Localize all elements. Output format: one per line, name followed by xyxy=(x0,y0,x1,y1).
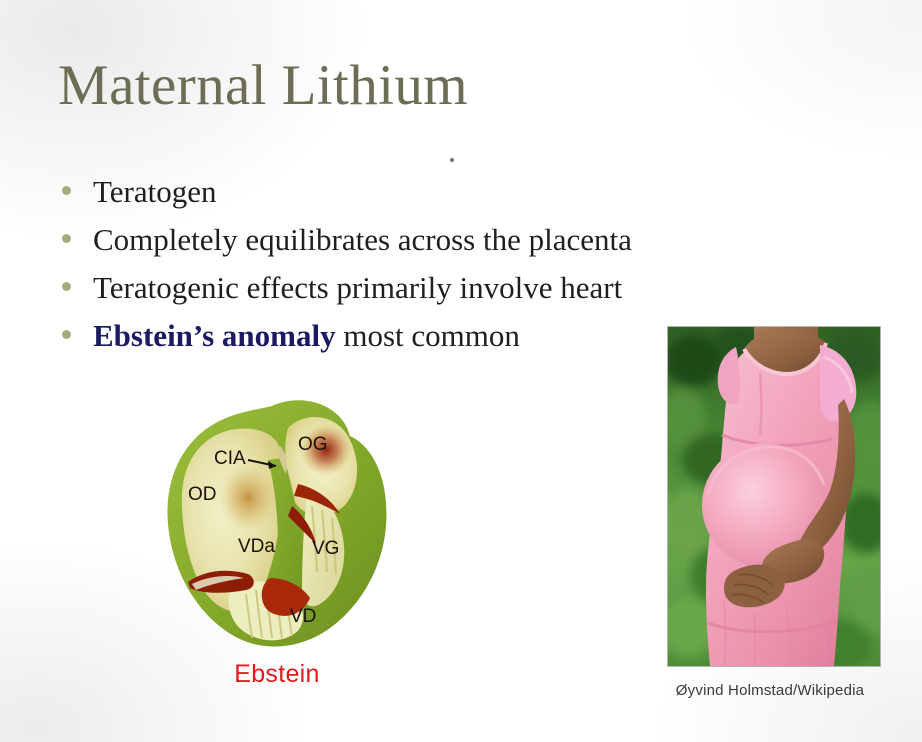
label-og: OG xyxy=(298,434,328,455)
photo-credit-caption: Øyvind Holmstad/Wikipedia xyxy=(630,682,910,699)
label-vda: VDa xyxy=(238,536,275,557)
heart-diagram-caption: Ebstein xyxy=(152,660,402,689)
presentation-slide: Maternal Lithium Teratogen Completely eq… xyxy=(0,0,922,742)
photo-frame xyxy=(668,327,880,666)
bullet-point-icon xyxy=(62,282,71,291)
pregnancy-photo-figure xyxy=(668,327,880,666)
bullet-item-label: Completely equilibrates across the place… xyxy=(93,220,632,260)
bullet-item-label: Ebstein’s anomaly most common xyxy=(93,316,520,356)
bullet-point-icon xyxy=(62,234,71,243)
bullet-list: Teratogen Completely equilibrates across… xyxy=(62,172,762,364)
label-vg: VG xyxy=(312,538,339,559)
placket-seam xyxy=(760,373,762,435)
label-od: OD xyxy=(188,484,217,505)
right-atrium-blotch xyxy=(218,464,278,532)
list-item: Completely equilibrates across the place… xyxy=(62,220,762,268)
bullet-point-icon xyxy=(62,330,71,339)
label-vd: VD xyxy=(290,606,316,627)
stray-dot-artifact xyxy=(450,158,454,162)
list-item: Teratogenic effects primarily involve he… xyxy=(62,268,762,316)
label-cia: CIA xyxy=(214,448,246,469)
bullet-point-icon xyxy=(62,186,71,195)
heart-diagram-figure: CIA OG OD VDa VG VD xyxy=(152,388,402,658)
list-item: Teratogen xyxy=(62,172,762,220)
bullet-item-label: Teratogenic effects primarily involve he… xyxy=(93,268,622,308)
list-item-highlighted: Ebstein’s anomaly most common xyxy=(62,316,762,364)
bullet-item-remainder: most common xyxy=(336,318,520,353)
pregnant-woman-photo xyxy=(668,327,880,666)
bullet-item-label: Teratogen xyxy=(93,172,217,212)
emphasis-term: Ebstein’s anomaly xyxy=(93,318,336,353)
heart-cross-section-illustration: CIA OG OD VDa VG VD xyxy=(152,388,402,658)
page-title: Maternal Lithium xyxy=(58,52,468,120)
